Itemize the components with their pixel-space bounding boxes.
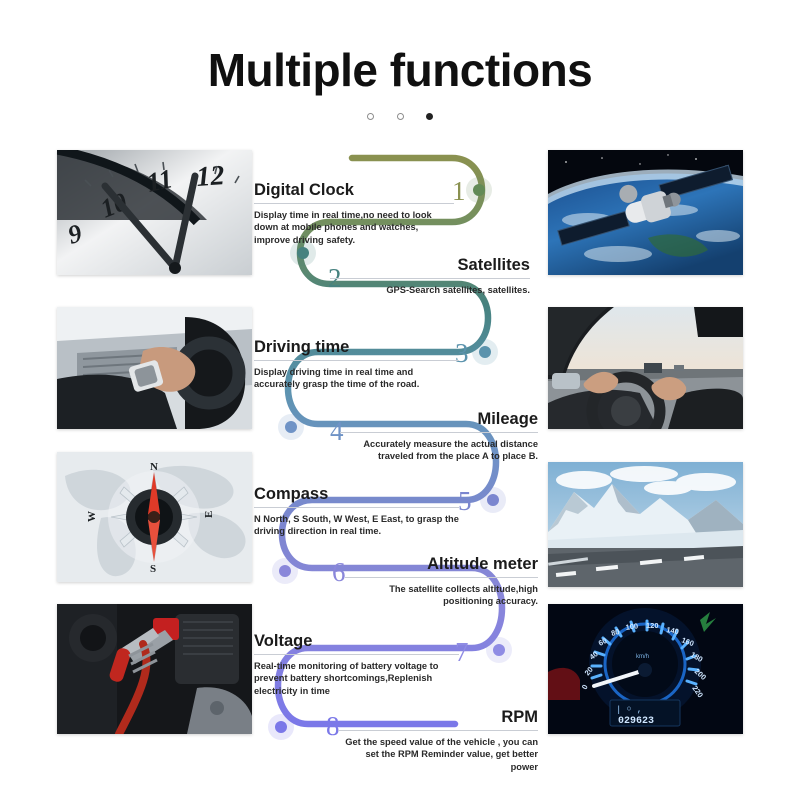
step-desc-rpm: Get the speed value of the vehicle , you… bbox=[338, 736, 538, 773]
satellite-photo bbox=[548, 150, 743, 275]
step-rule-1 bbox=[254, 203, 454, 204]
step-block-driving-time: Driving time Display driving time in rea… bbox=[254, 337, 459, 391]
step-rule-4 bbox=[340, 432, 538, 433]
step-desc-satellites: GPS-Search satellites, satellites. bbox=[330, 284, 530, 296]
step-desc-voltage: Real-time monitoring of battery voltage … bbox=[254, 660, 459, 697]
odometer-value: 029623 bbox=[618, 716, 654, 727]
step-title-compass: Compass bbox=[254, 484, 459, 504]
step-title-satellites: Satellites bbox=[330, 255, 530, 275]
step-rule-8 bbox=[338, 730, 538, 731]
step-rule-7 bbox=[254, 654, 459, 655]
battery-photo bbox=[57, 604, 252, 734]
step-title-altitude-meter: Altitude meter bbox=[345, 554, 538, 574]
step-block-mileage: Mileage Accurately measure the actual di… bbox=[340, 409, 538, 463]
step-title-mileage: Mileage bbox=[340, 409, 538, 429]
step-number-1: 1 bbox=[452, 178, 466, 205]
step-block-digital-clock: Digital Clock Display time in real time,… bbox=[254, 180, 454, 246]
step-rule-6 bbox=[345, 577, 538, 578]
step-number-6: 6 bbox=[332, 559, 346, 586]
step-block-altitude-meter: Altitude meter The satellite collects al… bbox=[345, 554, 538, 608]
svg-text:| ￮ ,: | ￮ , bbox=[616, 705, 642, 715]
step-number-5: 5 bbox=[458, 488, 472, 515]
clock-photo: 9 10 11 12 bbox=[57, 150, 252, 275]
compass-label-south: S bbox=[150, 563, 156, 575]
carousel-dot-2[interactable] bbox=[397, 113, 404, 120]
step-block-satellites: Satellites GPS-Search satellites, satell… bbox=[330, 255, 530, 296]
step-desc-digital-clock: Display time in real time,no need to loo… bbox=[254, 209, 454, 246]
multiple-functions-infographic: Multiple functions bbox=[0, 0, 800, 800]
carousel-dot-1[interactable] bbox=[367, 113, 374, 120]
compass-label-east: E bbox=[203, 511, 215, 518]
carousel-dots[interactable] bbox=[0, 108, 800, 126]
svg-text:100: 100 bbox=[625, 621, 639, 632]
page-title: Multiple functions bbox=[0, 44, 800, 96]
step-title-voltage: Voltage bbox=[254, 631, 459, 651]
step-block-compass: Compass N North, S South, W West, E East… bbox=[254, 484, 459, 538]
step-desc-mileage: Accurately measure the actual distance t… bbox=[340, 438, 538, 463]
step-title-rpm: RPM bbox=[338, 707, 538, 727]
step-title-digital-clock: Digital Clock bbox=[254, 180, 454, 200]
mountain-road-photo bbox=[548, 462, 743, 587]
speedometer-photo: 0 20 40 60 80 100 120 140 160 180 200 22… bbox=[548, 604, 743, 734]
step-desc-driving-time: Display driving time in real time and ac… bbox=[254, 366, 459, 391]
step-rule-5 bbox=[254, 507, 459, 508]
step-desc-compass: N North, S South, W West, E East, to gra… bbox=[254, 513, 459, 538]
step-block-voltage: Voltage Real-time monitoring of battery … bbox=[254, 631, 459, 697]
speedometer-unit: km/h bbox=[636, 654, 649, 660]
step-title-driving-time: Driving time bbox=[254, 337, 459, 357]
compass-label-north: N bbox=[150, 461, 158, 473]
svg-text:120: 120 bbox=[646, 621, 659, 630]
svg-text:12: 12 bbox=[195, 160, 225, 193]
step-rule-2 bbox=[330, 278, 530, 279]
driving-photo bbox=[57, 307, 252, 429]
step-block-rpm: RPM Get the speed value of the vehicle ,… bbox=[338, 707, 538, 773]
compass-label-west: W bbox=[86, 511, 98, 522]
step-rule-3 bbox=[254, 360, 459, 361]
carousel-dot-3[interactable] bbox=[426, 113, 433, 120]
step-desc-altitude-meter: The satellite collects altitude,high pos… bbox=[345, 583, 538, 608]
highway-photo bbox=[548, 307, 743, 429]
compass-photo: N S W E bbox=[57, 452, 252, 582]
